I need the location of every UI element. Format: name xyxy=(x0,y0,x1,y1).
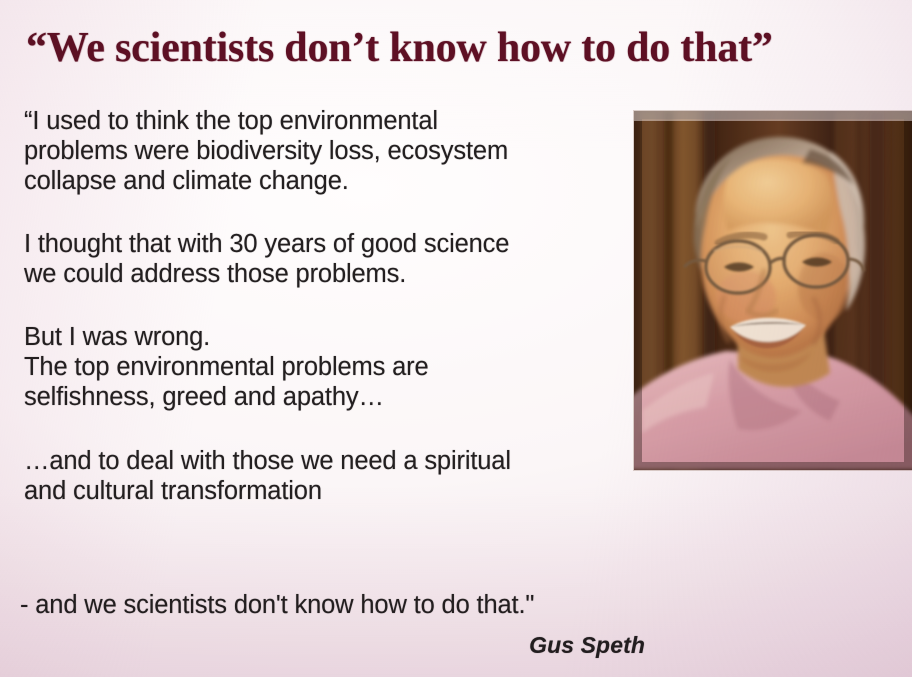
quote-line: selfishness, greed and apathy… xyxy=(24,382,624,412)
quote-line: we could address those problems. xyxy=(24,259,624,289)
quote-paragraph-1: “I used to think the top environmental p… xyxy=(24,106,624,196)
portrait-photo xyxy=(634,111,912,470)
quote-line: collapse and climate change. xyxy=(24,166,624,196)
quote-paragraph-3: But I was wrong. The top environmental p… xyxy=(24,322,624,412)
slide-title: “We scientists don’t know how to do that… xyxy=(26,24,866,72)
portrait-image xyxy=(634,111,912,470)
quote-closing-line: - and we scientists don't know how to do… xyxy=(20,590,700,620)
quote-line: “I used to think the top environmental xyxy=(24,106,624,136)
quote-line: …and to deal with those we need a spirit… xyxy=(24,446,624,476)
quote-line: and cultural transformation xyxy=(24,476,624,506)
quote-body: “I used to think the top environmental p… xyxy=(24,106,624,506)
presentation-slide: “We scientists don’t know how to do that… xyxy=(0,0,912,677)
quote-attribution: Gus Speth xyxy=(0,632,645,659)
paragraph-spacer xyxy=(24,412,624,446)
quote-line: The top environmental problems are xyxy=(24,352,624,382)
quote-paragraph-2: I thought that with 30 years of good sci… xyxy=(24,229,624,289)
quote-line: problems were biodiversity loss, ecosyst… xyxy=(24,136,624,166)
paragraph-spacer xyxy=(24,289,624,322)
quote-line: But I was wrong. xyxy=(24,322,624,352)
quote-line: I thought that with 30 years of good sci… xyxy=(24,229,624,259)
paragraph-spacer xyxy=(24,196,624,229)
quote-paragraph-4: …and to deal with those we need a spirit… xyxy=(24,446,624,506)
